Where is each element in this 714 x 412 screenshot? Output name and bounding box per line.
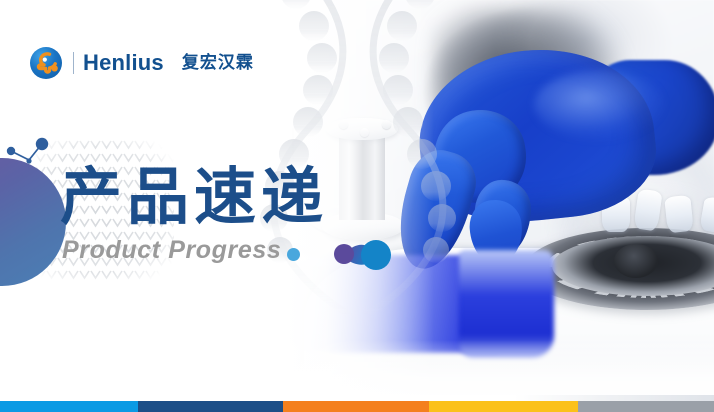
left-semicircle-decoration — [0, 158, 66, 286]
bottom-bar-segment-dark-blue — [138, 401, 283, 412]
product-progress-banner: Henlius 复宏汉霖 产品速递 Product Progress — [0, 0, 714, 412]
bottom-bar-segment-gray — [578, 401, 714, 412]
page-title-en: Product Progress — [62, 238, 281, 263]
brand-header: Henlius 复宏汉霖 — [30, 47, 254, 79]
bottom-bar-segment-light-blue — [0, 401, 138, 412]
sample-tube — [664, 195, 694, 234]
molecule-dumbbell-decoration — [330, 232, 392, 276]
bottom-bar-segment-yellow — [429, 401, 578, 412]
brand-name-cn: 复宏汉霖 — [182, 55, 254, 72]
glove-highlight — [534, 70, 664, 140]
henlius-logo-icon[interactable] — [30, 47, 62, 79]
bottom-color-bar — [0, 401, 714, 412]
brand-name-en: Henlius — [83, 52, 164, 74]
rotor-hub — [614, 244, 658, 278]
photo-bottom-fade — [284, 340, 714, 400]
brand-divider — [73, 52, 74, 74]
molecule-node-icon — [6, 136, 52, 170]
decoration-dot — [287, 248, 300, 261]
bottom-bar-segment-orange — [283, 401, 429, 412]
lab-photo — [284, 0, 714, 400]
page-title-cn: 产品速递 — [60, 166, 328, 228]
